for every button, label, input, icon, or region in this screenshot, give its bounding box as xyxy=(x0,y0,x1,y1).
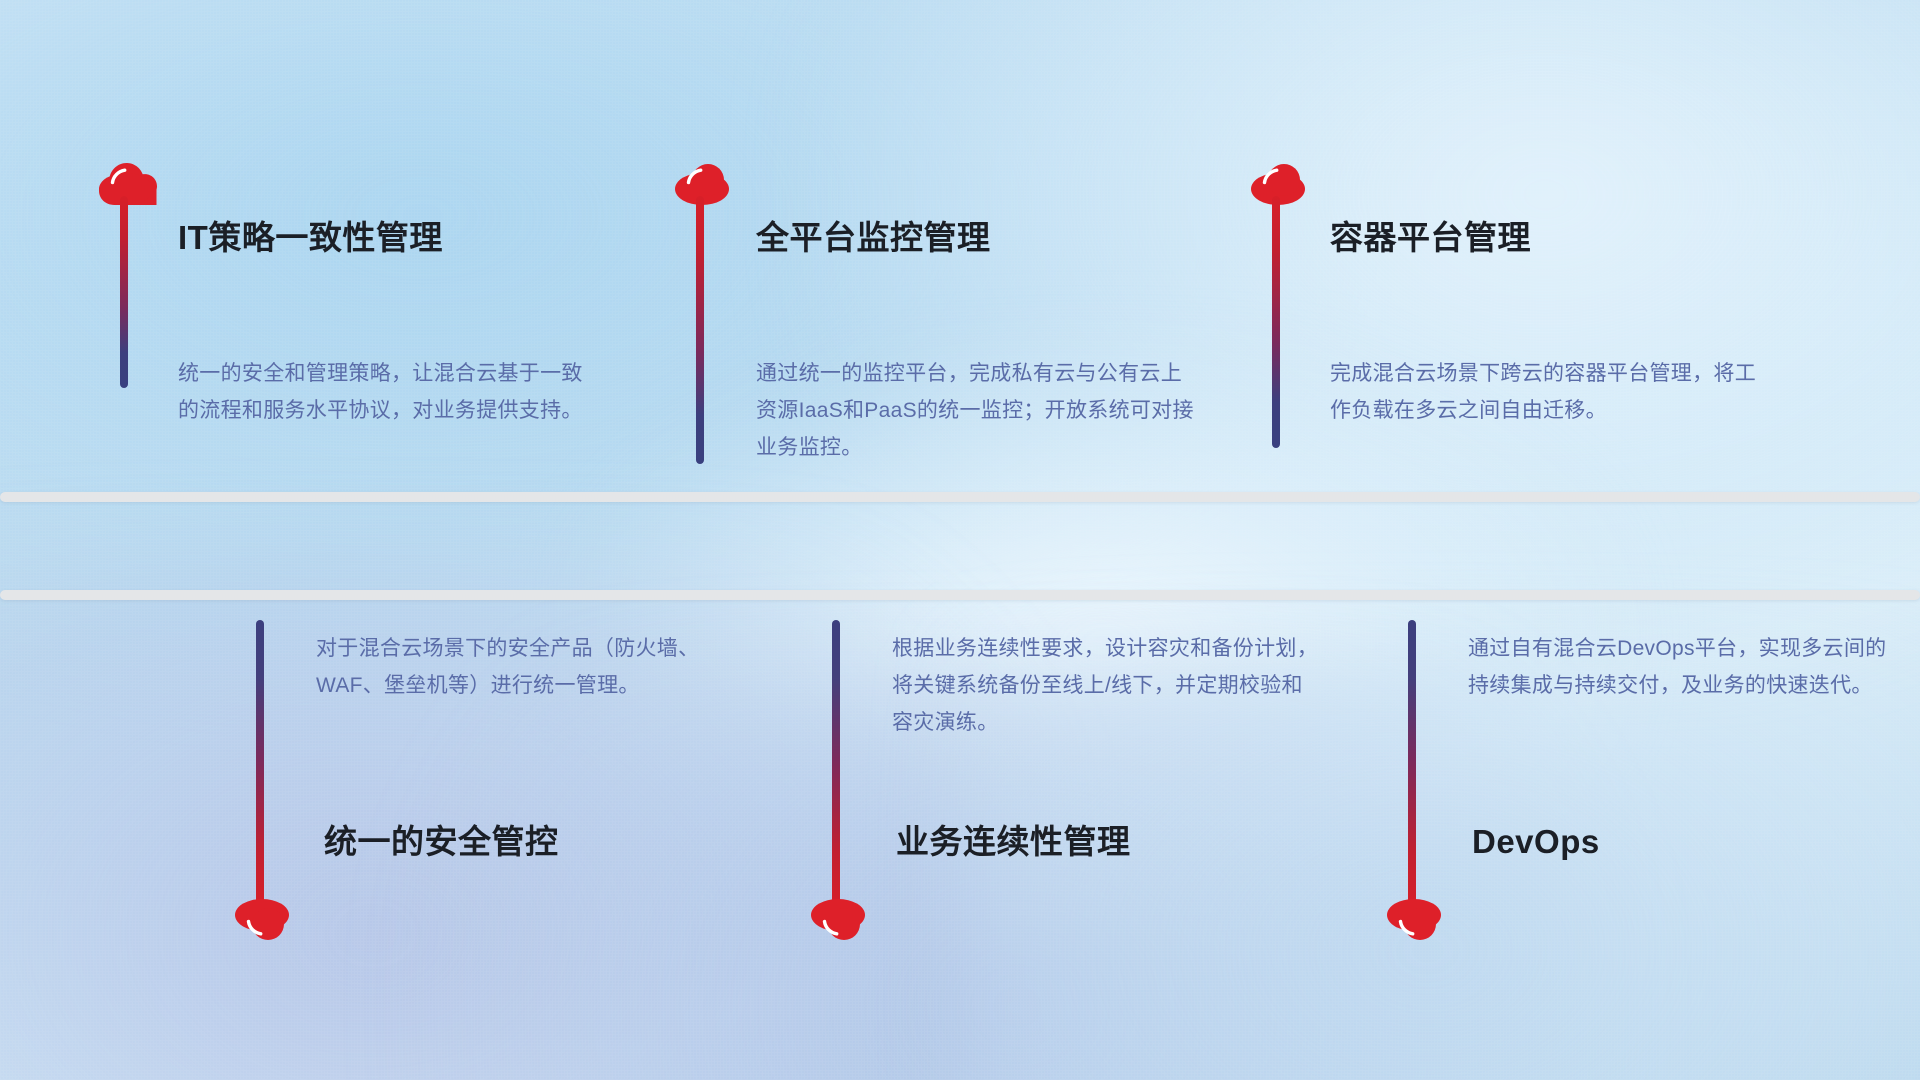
bottom-item-3-title: DevOps xyxy=(1472,822,1600,862)
bottom-item-2-body: 根据业务连续性要求，设计容灾和备份计划，将关键系统备份至线上/线下，并定期校验和… xyxy=(892,630,1322,741)
connector-stem xyxy=(120,196,128,388)
bottom-item-1-body: 对于混合云场景下的安全产品（防火墙、WAF、堡垒机等）进行统一管理。 xyxy=(316,630,736,704)
connector-stem xyxy=(696,196,704,464)
cloud-icon xyxy=(808,898,870,944)
top-item-1-title: IT策略一致性管理 xyxy=(178,218,443,258)
top-item-2-title: 全平台监控管理 xyxy=(756,218,991,258)
connector-stem xyxy=(256,620,264,910)
road-edge-line-top xyxy=(0,492,1920,502)
bottom-item-1-title: 统一的安全管控 xyxy=(324,822,559,862)
connector-stem xyxy=(832,620,840,910)
top-item-1-body: 统一的安全和管理策略，让混合云基于一致的流程和服务水平协议，对业务提供支持。 xyxy=(178,355,598,429)
road-center-dashes xyxy=(0,537,1920,550)
connector-stem xyxy=(1408,620,1416,910)
top-item-3-title: 容器平台管理 xyxy=(1330,218,1531,258)
connector-stem xyxy=(1272,196,1280,448)
infographic-canvas: IT策略一致性管理 统一的安全和管理策略，让混合云基于一致的流程和服务水平协议，… xyxy=(0,0,1920,1080)
top-item-2-body: 通过统一的监控平台，完成私有云与公有云上资源IaaS和PaaS的统一监控；开放系… xyxy=(756,355,1196,466)
cloud-icon xyxy=(1384,898,1446,944)
bottom-item-3-body: 通过自有混合云DevOps平台，实现多云间的持续集成与持续交付，及业务的快速迭代… xyxy=(1468,630,1888,704)
road-edge-line-bottom xyxy=(0,590,1920,600)
cloud-icon xyxy=(232,898,294,944)
top-item-3-body: 完成混合云场景下跨云的容器平台管理，将工作负载在多云之间自由迁移。 xyxy=(1330,355,1760,429)
bottom-item-2-title: 业务连续性管理 xyxy=(896,822,1131,862)
